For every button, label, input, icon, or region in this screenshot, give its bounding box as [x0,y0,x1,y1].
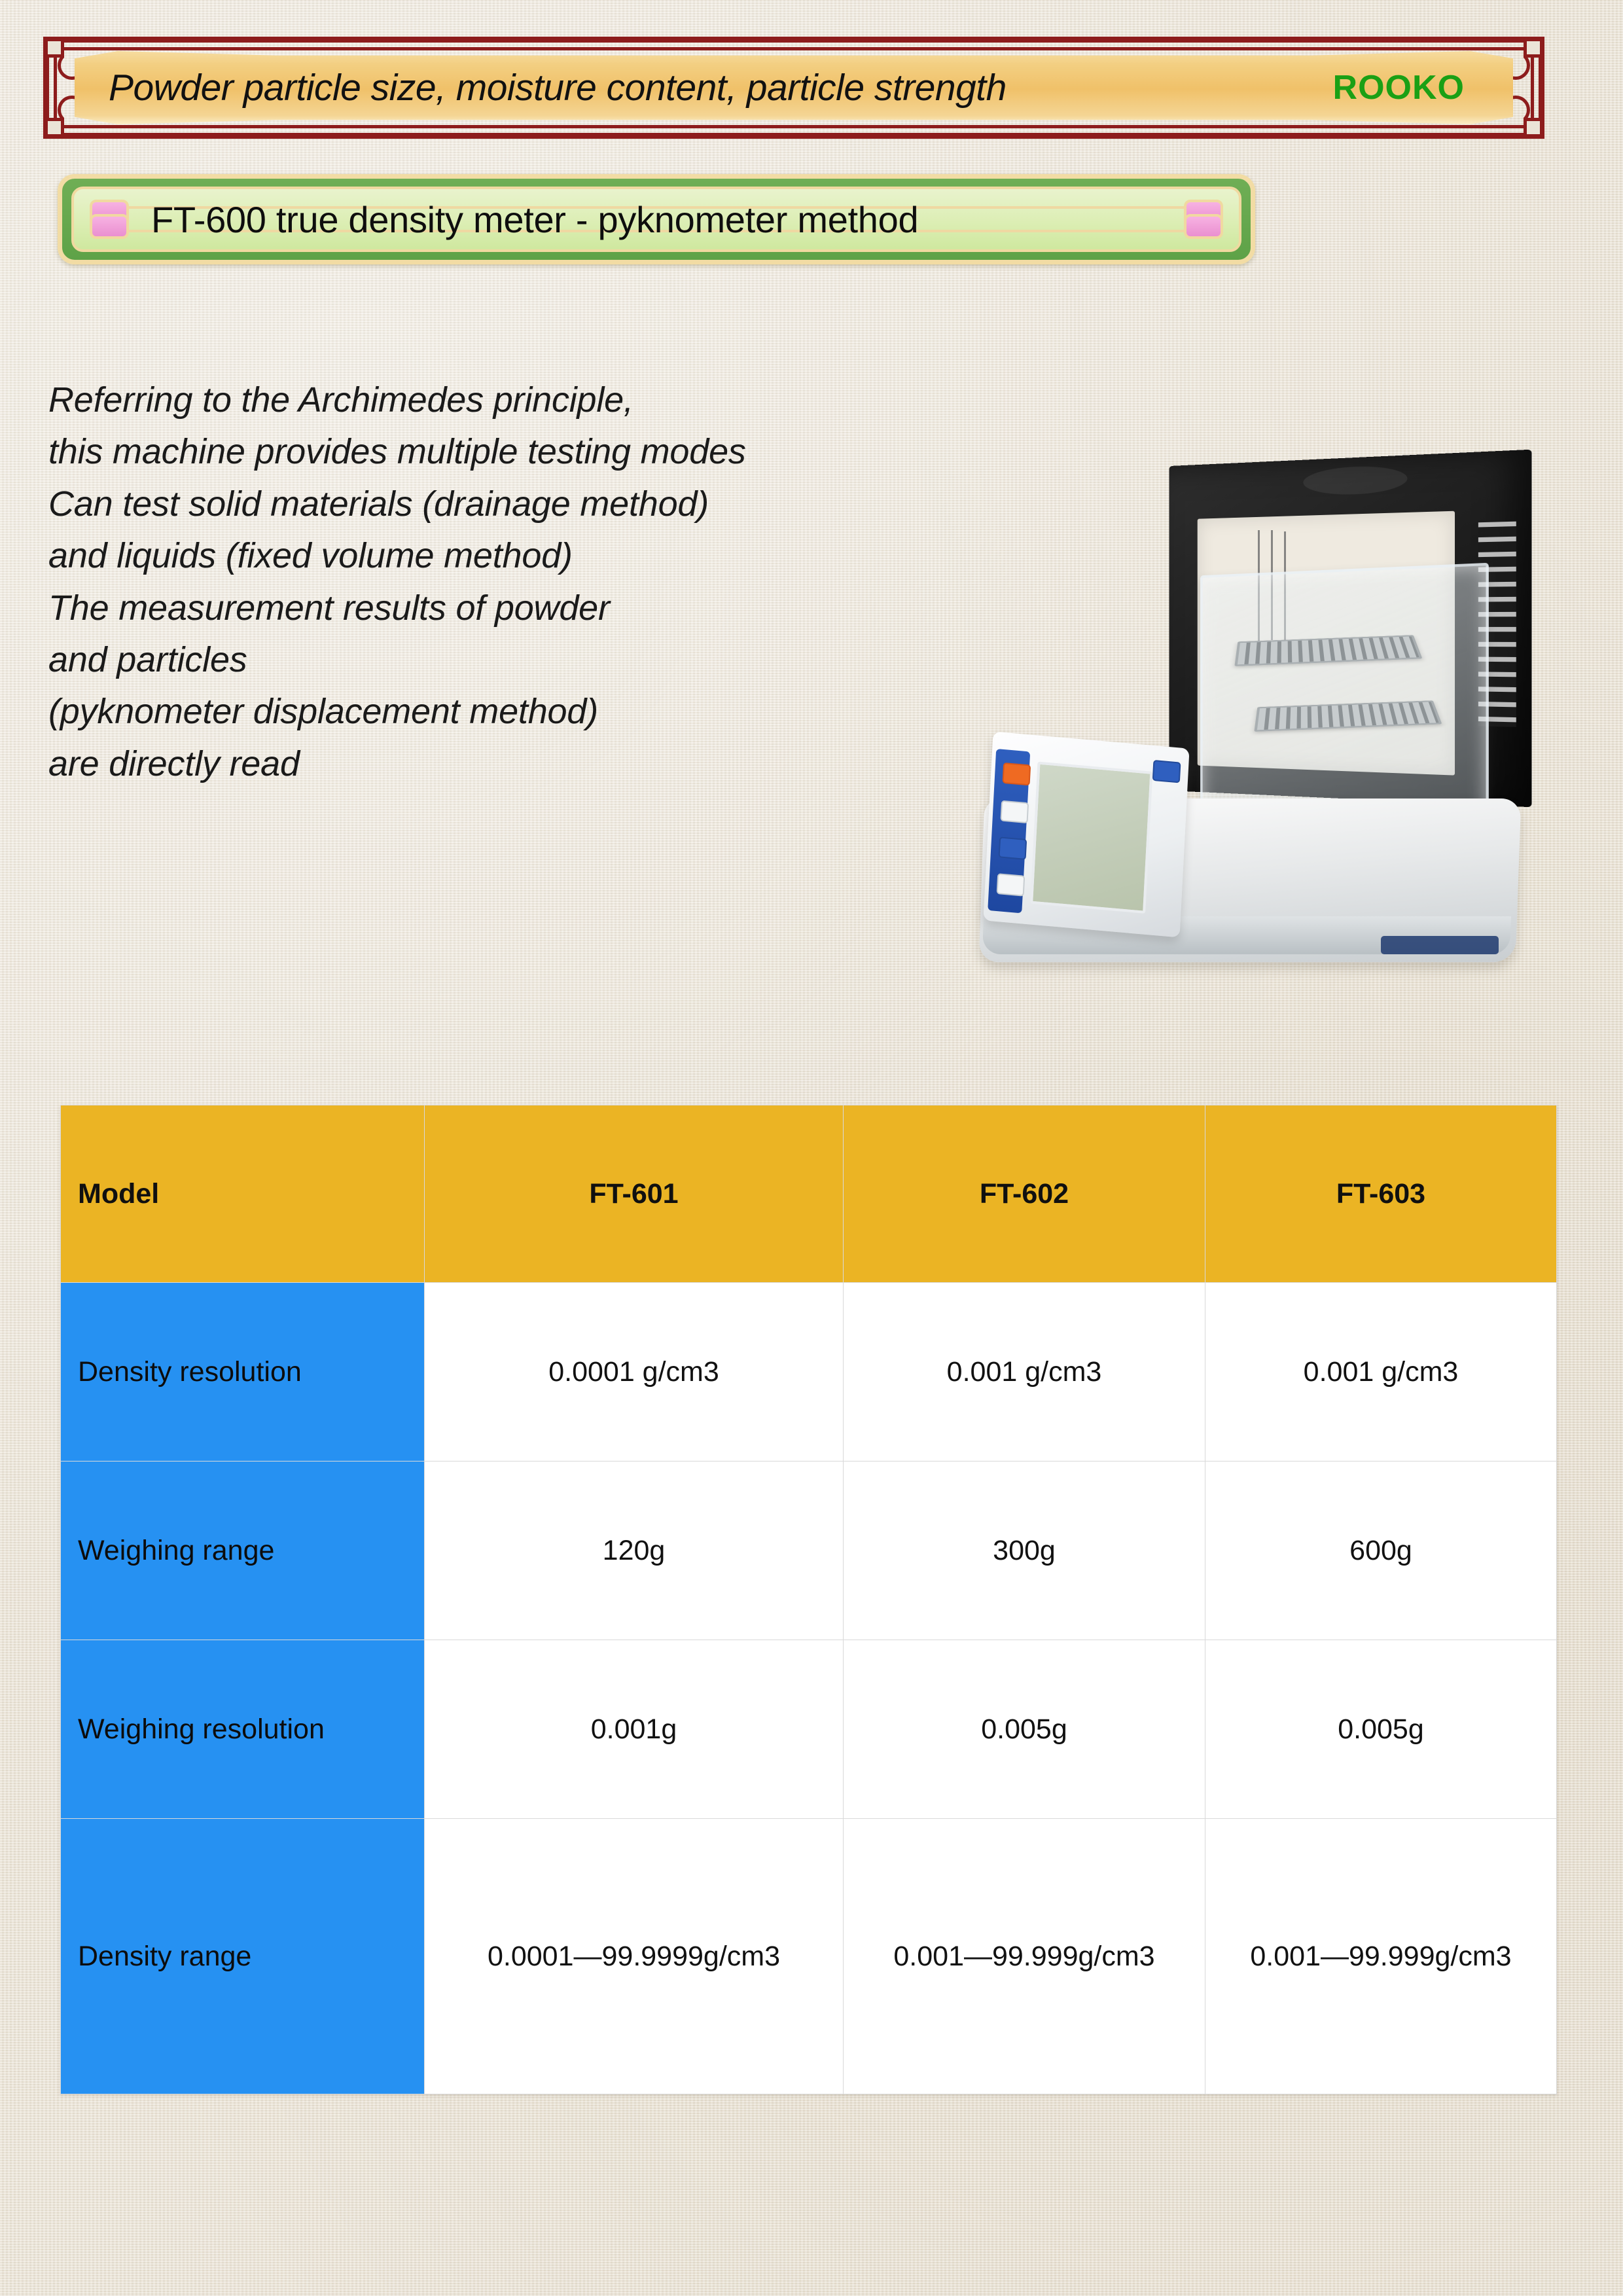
table-row: Density resolution 0.0001 g/cm3 0.001 g/… [61,1283,1557,1462]
row-label-density-range: Density range [61,1819,425,2094]
cell-weighing-range-ft602: 300g [844,1462,1205,1640]
table-header-ft601: FT-601 [425,1105,844,1283]
cell-weighing-range-ft603: 600g [1205,1462,1557,1640]
cell-density-range-ft603: 0.001—99.999g/cm3 [1205,1819,1557,2094]
description-line: are directly read [48,738,1069,790]
row-label-density-resolution: Density resolution [61,1283,425,1462]
description-line: this machine provides multiple testing m… [48,426,1069,478]
header-banner: Powder particle size, moisture content, … [43,37,1544,139]
ornament-pink-bottom-left-icon [90,214,129,239]
photo-control-panel [983,732,1189,938]
cell-weighing-resolution-ft602: 0.005g [844,1640,1205,1819]
row-label-weighing-range: Weighing range [61,1462,425,1640]
cell-density-resolution-ft603: 0.001 g/cm3 [1205,1283,1557,1462]
cell-density-resolution-ft601: 0.0001 g/cm3 [425,1283,844,1462]
rooko-logo: ROOKO [1333,68,1465,107]
description-line: Referring to the Archimedes principle, [48,374,1069,426]
banner-gold-plate: Powder particle size, moisture content, … [75,51,1513,124]
photo-panel-button [1003,762,1031,786]
description-paragraph: Referring to the Archimedes principle, t… [48,374,1069,790]
table-header-model: Model [61,1105,425,1283]
row-label-weighing-resolution: Weighing resolution [61,1640,425,1819]
cell-density-resolution-ft602: 0.001 g/cm3 [844,1283,1205,1462]
header-title: Powder particle size, moisture content, … [109,66,1007,109]
description-line: The measurement results of powder [48,583,1069,634]
ornament-pink-bottom-right-icon [1184,214,1223,239]
product-title-banner: FT-600 true density meter - pyknometer m… [58,174,1255,264]
photo-cabinet-dimple [1303,465,1407,496]
table-header-ft602: FT-602 [844,1105,1205,1283]
photo-lcd-screen [1030,761,1152,913]
photo-panel-button [999,836,1027,860]
cell-weighing-resolution-ft601: 0.001g [425,1640,844,1819]
table-header-ft603: FT-603 [1205,1105,1557,1283]
description-line: Can test solid materials (drainage metho… [48,478,1069,530]
description-line: (pyknometer displacement method) [48,686,1069,738]
table-row: Weighing range 120g 300g 600g [61,1462,1557,1640]
photo-panel-button [1152,760,1181,783]
cell-weighing-range-ft601: 120g [425,1462,844,1640]
photo-panel-button [997,873,1026,897]
table-row: Density range 0.0001—99.9999g/cm3 0.001—… [61,1819,1557,2094]
cell-density-range-ft601: 0.0001—99.9999g/cm3 [425,1819,844,2094]
table-header-row: Model FT-601 FT-602 FT-603 [61,1105,1557,1283]
photo-panel-button [1000,800,1029,824]
photo-balance-foot [1381,936,1499,954]
product-title-banner-inner: FT-600 true density meter - pyknometer m… [71,187,1241,252]
description-line: and liquids (fixed volume method) [48,530,1069,582]
specification-table: Model FT-601 FT-602 FT-603 Density resol… [60,1105,1557,2094]
product-title: FT-600 true density meter - pyknometer m… [151,198,918,241]
product-photo [962,432,1551,1014]
cell-density-range-ft602: 0.001—99.999g/cm3 [844,1819,1205,2094]
table-row: Weighing resolution 0.001g 0.005g 0.005g [61,1640,1557,1819]
cell-weighing-resolution-ft603: 0.005g [1205,1640,1557,1819]
description-line: and particles [48,634,1069,686]
